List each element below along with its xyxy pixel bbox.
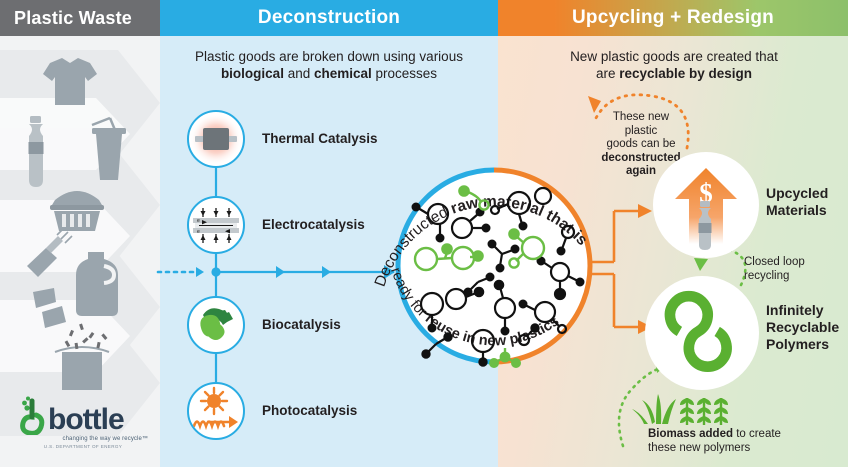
subtitle-decon-line1: Plastic goods are broken down using vari…: [195, 49, 463, 64]
deconstructed-material-circle: [396, 168, 592, 364]
closedloop-line2: recycling: [744, 270, 789, 282]
output-label-infinitely-recyclable-polymers: Infinitely Recyclable Polymers: [766, 302, 839, 353]
closedloop-line1: Closed loop: [744, 256, 805, 268]
note-decon-line4: again: [626, 165, 656, 177]
upcycled-label-line2: Materials: [766, 202, 827, 218]
bottle-silhouette: [699, 201, 712, 250]
dollar-up-arrow-bottle-icon: $: [653, 152, 759, 258]
enzyme-icon: [189, 298, 243, 352]
note-biomass-added: Biomass added to create these new polyme…: [648, 428, 844, 455]
bottle-swoosh-icon: [18, 395, 48, 435]
note-decon-line1: These new plastic: [613, 111, 669, 137]
infinity-icon: [645, 276, 759, 390]
logo-wordmark: bottle: [48, 405, 124, 435]
subtitle-decon-processes: processes: [372, 66, 437, 81]
process-label-thermal-catalysis: Thermal Catalysis: [262, 131, 378, 146]
subtitle-decon-chemical: chemical: [314, 66, 372, 81]
note-decon-line2: goods can be: [606, 138, 675, 150]
infinite-label-line1: Infinitely: [766, 302, 824, 318]
subtitle-deconstruction: Plastic goods are broken down using vari…: [160, 48, 498, 82]
output-circle-upcycled-materials[interactable]: $: [653, 152, 759, 258]
biomass-rest: to create: [733, 428, 781, 440]
upcycled-label-line1: Upcycled: [766, 185, 828, 201]
svg-text:e: e: [197, 218, 200, 224]
process-circle-biocatalysis[interactable]: [187, 296, 245, 354]
header-plastic-waste: Plastic Waste: [0, 0, 160, 36]
process-circle-photocatalysis[interactable]: [187, 382, 245, 440]
logo-tagline: changing the way we recycle™: [18, 436, 148, 442]
header-upcycling-redesign: Upcycling + Redesign: [498, 0, 848, 36]
process-label-electrocatalysis: Electrocatalysis: [262, 217, 365, 232]
logo-department: U.S. DEPARTMENT OF ENERGY: [18, 444, 148, 449]
bottle-logo: bottle changing the way we recycle™ U.S.…: [18, 395, 148, 449]
note-closed-loop-recycling: Closed loop recycling: [744, 256, 832, 283]
biomass-bold: Biomass added: [648, 428, 733, 440]
note-decon-line3: deconstructed: [601, 152, 680, 164]
infinite-label-line3: Polymers: [766, 336, 829, 352]
subtitle-upcycling: New plastic goods are created that are r…: [500, 48, 848, 82]
subtitle-upcycle-recyclable: recyclable by design: [619, 66, 752, 81]
svg-text:e: e: [197, 229, 200, 235]
electrolysis-cell-icon: e e: [189, 198, 243, 252]
subtitle-decon-and: and: [284, 66, 314, 81]
subtitle-decon-biological: biological: [221, 66, 284, 81]
subtitle-upcycle-line1: New plastic goods are created that: [570, 49, 778, 64]
subtitle-upcycle-are: are: [596, 66, 619, 81]
output-label-upcycled-materials: Upcycled Materials: [766, 185, 828, 219]
output-circle-infinitely-recyclable[interactable]: [645, 276, 759, 390]
process-circle-electrocatalysis[interactable]: e e: [187, 196, 245, 254]
infographic-canvas: Plastic Waste Deconstruction Upcycling +…: [0, 0, 848, 467]
sun-light-wave-icon: [189, 384, 243, 438]
infinite-label-line2: Recyclable: [766, 319, 839, 335]
process-label-biocatalysis: Biocatalysis: [262, 317, 341, 332]
biomass-line2: these new polymers: [648, 442, 750, 454]
header-deconstruction: Deconstruction: [160, 0, 498, 36]
process-circle-thermal-catalysis[interactable]: [187, 110, 245, 168]
reactor-heat-icon: [189, 112, 243, 166]
process-label-photocatalysis: Photocatalysis: [262, 403, 357, 418]
